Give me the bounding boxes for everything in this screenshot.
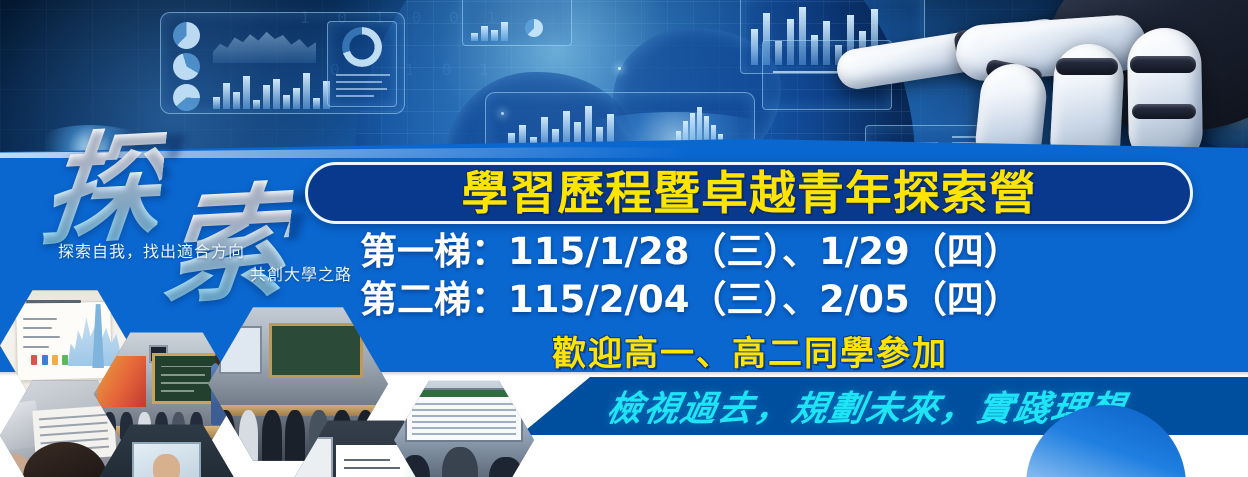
donut-chart-graphic — [342, 27, 382, 67]
hall-attendee-3 — [262, 410, 282, 464]
slogan-text: 檢視過去，規劃未來，實踐理想 — [603, 381, 1131, 432]
poster-line-1 — [23, 318, 57, 320]
main-bar-chart — [508, 103, 614, 147]
lab-spreadsheet-header — [407, 390, 521, 397]
area-chart-graphic — [213, 23, 316, 63]
pie-chart-icon-2 — [168, 48, 205, 85]
mini-pie-chart — [525, 19, 543, 37]
projector-screen — [132, 442, 202, 477]
poster-line-3 — [23, 336, 59, 338]
event-title-pill: 學習歷程暨卓越青年探索營 — [305, 162, 1193, 224]
poster-block-1 — [31, 355, 37, 365]
poster-line-4 — [23, 346, 49, 348]
report-text-lines — [336, 74, 390, 97]
hall-blackboard — [269, 323, 363, 377]
event-banner: 1 0 1 0 0 1 0 1 1 0 1 1 0 0 1 1 0 0 1 0 … — [0, 0, 1248, 477]
pie-chart-icon-3 — [167, 78, 205, 116]
hud-icon-strip — [462, 0, 572, 46]
hall-attendee-4 — [285, 410, 305, 464]
lab-person-3 — [489, 457, 523, 477]
poster-block-2 — [42, 355, 48, 365]
tagline-line-1: 探索自我，找出適合方向 — [58, 242, 245, 261]
collage-photo-computer-lab — [394, 378, 534, 477]
logo-tagline: 探索自我，找出適合方向 共創大學之路 — [58, 240, 358, 286]
photo-collage: 探索學習歷程暨卓越青年探索營 — [0, 282, 534, 477]
event-title-text: 學習歷程暨卓越青年探索營 — [461, 170, 1036, 216]
projector-person-face — [153, 454, 179, 477]
network-node-2 — [618, 67, 621, 70]
robot-knuckle-3 — [1056, 58, 1118, 75]
poster-block-3 — [52, 355, 58, 365]
poster-line-2 — [23, 327, 52, 329]
session-row-1: 第一梯：115/1/28（三）、1/29（四） — [360, 228, 1200, 276]
pie-chart-icon-1 — [173, 22, 200, 49]
photo-computer-lab-image — [394, 378, 534, 477]
hall-projection-screen — [219, 326, 262, 374]
hud-report-panel — [327, 21, 397, 107]
poster-block-4 — [62, 355, 68, 365]
poster-title-line — [26, 300, 81, 303]
hall-attendee-2 — [239, 410, 259, 464]
bar-chart-graphic — [213, 71, 330, 109]
mini-bar-chart — [471, 21, 508, 41]
hud-dashboard-panel — [160, 12, 405, 114]
lab-monitor — [405, 388, 523, 443]
robot-knuckle-5 — [1132, 104, 1196, 119]
lab-person-2 — [442, 447, 478, 477]
robot-knuckle-4 — [1130, 56, 1196, 73]
